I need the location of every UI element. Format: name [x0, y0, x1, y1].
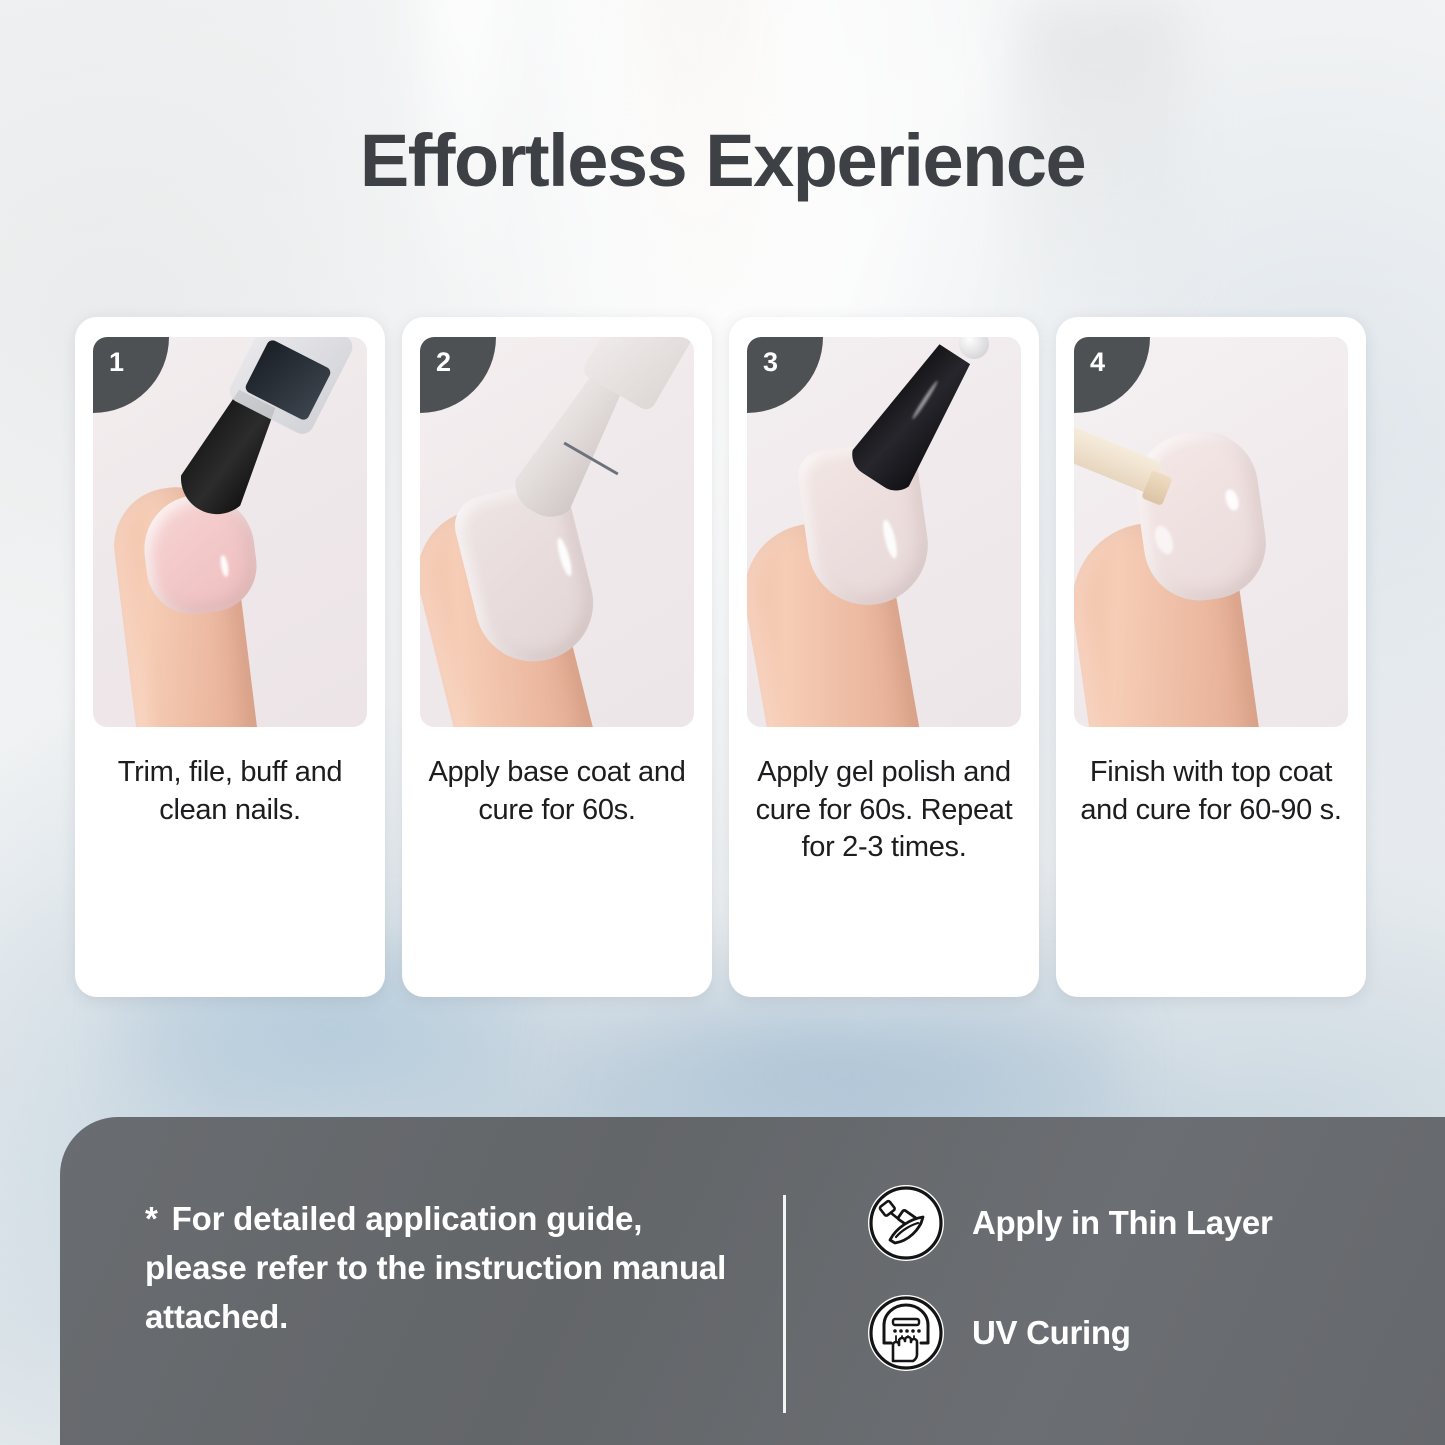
footer-note: *For detailed application guide, please …	[145, 1195, 745, 1341]
brush-thin-layer-icon	[868, 1185, 944, 1261]
step-number-4: 4	[1090, 349, 1105, 376]
feature-apply-thin-layer[interactable]: Apply in Thin Layer	[868, 1185, 1273, 1261]
brush-cap-tip	[959, 337, 989, 359]
page-title: Effortless Experience	[0, 118, 1445, 203]
footer-panel: *For detailed application guide, please …	[60, 1117, 1445, 1445]
promo-graphic: Effortless Experience 1	[0, 0, 1445, 1445]
step-caption-3: Apply gel polish and cure for 60s. Repea…	[747, 754, 1021, 867]
steps-row: 1 Trim, file, buff and clean nails. 2	[75, 317, 1372, 997]
step-caption-2: Apply base coat and cure for 60s.	[420, 754, 694, 829]
step-card-3[interactable]: 3 Apply gel polish and cure for 60s. Rep…	[729, 317, 1039, 997]
step-number-2: 2	[436, 349, 451, 376]
uv-lamp-icon	[868, 1295, 944, 1371]
step-photo-3: 3	[747, 337, 1021, 727]
asterisk-icon: *	[145, 1200, 158, 1237]
step-photo-2: 2	[420, 337, 694, 727]
features-list: Apply in Thin Layer	[868, 1185, 1273, 1371]
step-caption-1: Trim, file, buff and clean nails.	[93, 754, 367, 829]
step-card-1[interactable]: 1 Trim, file, buff and clean nails.	[75, 317, 385, 997]
feature-label-thin-layer: Apply in Thin Layer	[972, 1204, 1273, 1242]
step-photo-1: 1	[93, 337, 367, 727]
step-photo-4: 4	[1074, 337, 1348, 727]
feature-uv-curing[interactable]: UV Curing	[868, 1295, 1273, 1371]
footer-note-text: For detailed application guide, please r…	[145, 1200, 726, 1335]
step-card-4[interactable]: 4 Finish with top coat and cure for 60-9…	[1056, 317, 1366, 997]
feature-label-uv-curing: UV Curing	[972, 1314, 1131, 1352]
step-number-1: 1	[109, 349, 124, 376]
step-number-3: 3	[763, 349, 778, 376]
step-caption-4: Finish with top coat and cure for 60-90 …	[1074, 754, 1348, 829]
footer-divider	[783, 1195, 786, 1413]
step-card-2[interactable]: 2 Apply base coat and cure for 60s.	[402, 317, 712, 997]
